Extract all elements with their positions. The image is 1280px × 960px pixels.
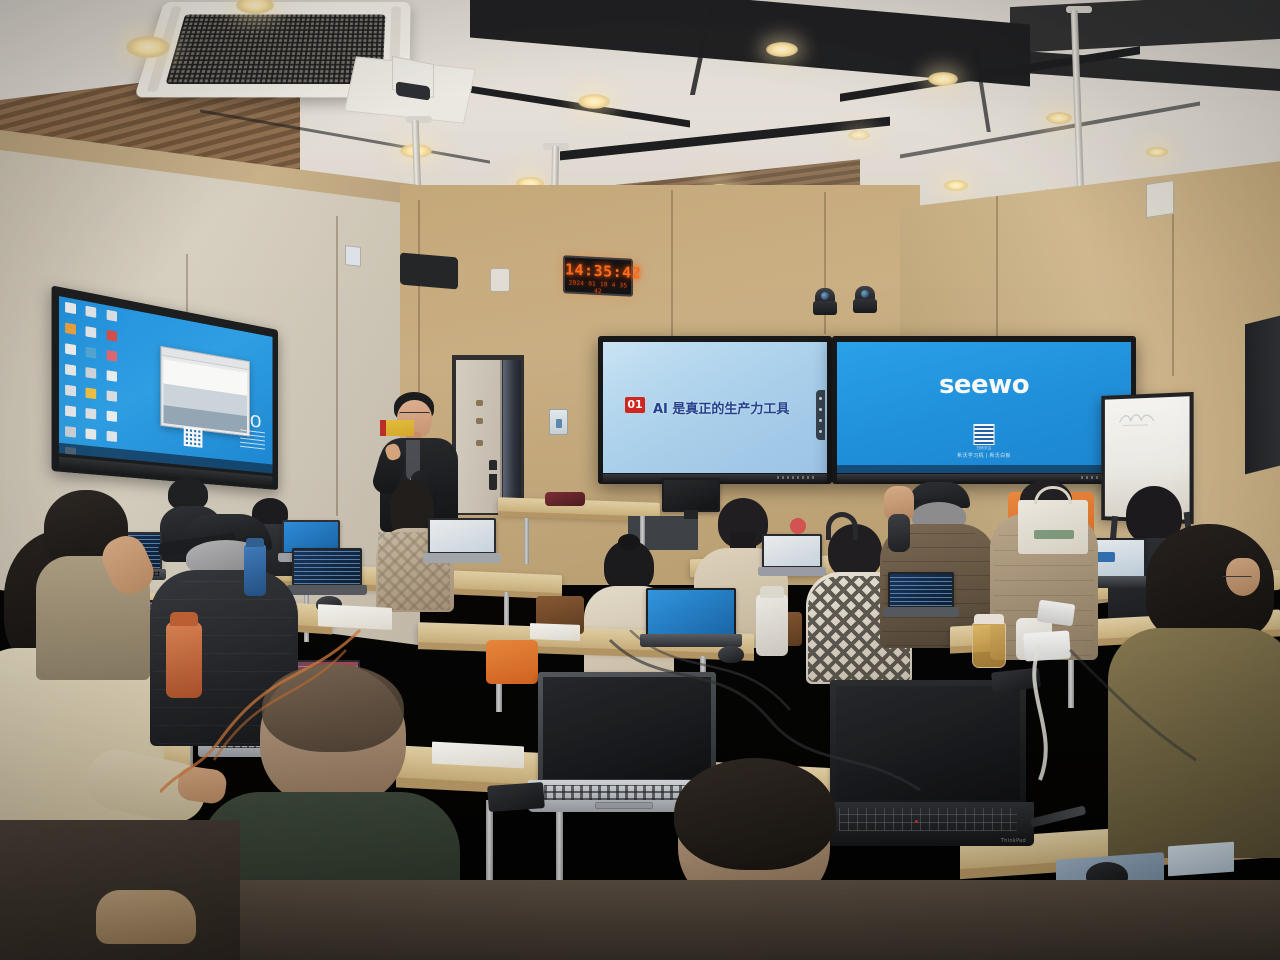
wall-sensor: [490, 268, 510, 292]
door-hinge-bottom: [476, 440, 483, 446]
desktop-icon[interactable]: [107, 310, 117, 322]
downlight-5: [578, 94, 610, 109]
desktop-icon[interactable]: [107, 370, 117, 382]
downlight-7: [766, 42, 798, 57]
far-right-display-edge: [1245, 316, 1280, 475]
boot: [96, 890, 196, 944]
desktop-widget[interactable]: [240, 429, 265, 452]
downlight-8: [928, 72, 958, 86]
desktop-icon[interactable]: [65, 426, 76, 438]
whiteboard-scribble: [1118, 410, 1158, 429]
desktop-icon[interactable]: [107, 411, 117, 422]
door-hinge-top: [476, 400, 483, 406]
desktop-icon[interactable]: [65, 405, 76, 417]
wall-speaker-left: [400, 252, 458, 289]
seewo-standby-screen[interactable]: seewo 扫码关注 希沃学习机 | 希沃白板: [837, 342, 1131, 473]
qr-caption: 扫码关注: [837, 446, 1131, 451]
door-hinge-mid: [476, 418, 483, 424]
desktop-icon[interactable]: [86, 428, 97, 439]
desktop-icon[interactable]: [107, 431, 117, 442]
desktop-icon[interactable]: [86, 326, 97, 338]
tote-bag[interactable]: [1018, 500, 1088, 554]
downlight-1: [126, 36, 170, 58]
pole-plate-1: [406, 116, 432, 123]
desktop-icon[interactable]: [86, 408, 97, 419]
camera-body: [853, 299, 877, 313]
door-handle-bar[interactable]: [483, 470, 500, 474]
digital-wall-clock: 14:35:42 2024 01 18 4 35 42: [563, 255, 633, 297]
front-desk-leg: [524, 518, 529, 564]
camera-lens-icon: [821, 292, 829, 300]
cable-right: [1000, 640, 1200, 800]
desktop-icon[interactable]: [107, 350, 117, 362]
ptz-camera-left: [812, 288, 838, 318]
laptop-base[interactable]: [883, 607, 959, 617]
laptop-screen[interactable]: [764, 536, 820, 566]
downlight-9: [944, 180, 968, 191]
laptop-screen[interactable]: [430, 520, 494, 552]
headphones[interactable]: [826, 512, 858, 540]
display-side-toolbar[interactable]: [816, 390, 825, 440]
hair-bun-knot: [618, 534, 640, 550]
stylus-pen[interactable]: [1030, 805, 1087, 827]
classroom-photo-scene: 14:35:42 2024 01 18 4 35 42: [0, 0, 1280, 960]
wall-switch-panel[interactable]: [1146, 180, 1174, 218]
laptop-screen[interactable]: [648, 590, 734, 634]
toolbar-dot-icon[interactable]: [819, 397, 822, 400]
slide-title: AI 是真正的生产力工具: [653, 398, 789, 417]
laptop-row3-c[interactable]: [428, 518, 496, 566]
desktop-icon[interactable]: [65, 364, 76, 376]
desk-leg: [486, 800, 493, 890]
laptop-lid[interactable]: [888, 572, 954, 608]
desktop-icon[interactable]: [65, 302, 76, 314]
desktop-icon[interactable]: [65, 323, 76, 335]
glasses-icon: [1222, 576, 1252, 580]
trackpoint-icon[interactable]: [915, 820, 918, 823]
downlight-11: [1146, 147, 1168, 157]
camera-body: [813, 301, 837, 315]
desktop-icon[interactable]: [107, 390, 117, 401]
desktop-icon[interactable]: [86, 388, 97, 400]
tea-cup-lid[interactable]: [974, 614, 1004, 624]
wall-seam-4: [671, 190, 673, 336]
toolbar-dot-icon[interactable]: [819, 408, 822, 411]
laptop-lid[interactable]: [292, 548, 362, 586]
seewo-taskbar[interactable]: [837, 465, 1131, 473]
seewo-footer-text: 希沃学习机 | 希沃白板: [837, 452, 1131, 459]
main-dual-display[interactable]: 01 AI 是真正的生产力工具 seewo 扫码关注 希沃学习机 | 希沃白板: [598, 336, 1136, 484]
window-content: [164, 359, 247, 433]
toolbar-dot-icon[interactable]: [819, 419, 822, 422]
camera-lens-icon: [861, 290, 869, 298]
desktop-icon[interactable]: [86, 347, 97, 359]
cable-bundle: [600, 630, 930, 810]
wall-seam-6: [996, 196, 998, 346]
desktop-icon[interactable]: [65, 343, 76, 355]
wall-notice-sign: [380, 420, 414, 436]
attendee-raised-hand: [866, 486, 936, 552]
laptop-screen[interactable]: [294, 550, 360, 584]
door-access-control-panel[interactable]: [549, 409, 568, 435]
blue-thermos[interactable]: [244, 544, 266, 596]
wall-seam-2: [336, 216, 338, 516]
toolbar-dot-icon[interactable]: [819, 430, 822, 433]
attendee-left-second: [36, 490, 156, 680]
laptop-row3-b[interactable]: [292, 548, 362, 598]
main-display-left-panel[interactable]: 01 AI 是真正的生产力工具: [598, 336, 832, 484]
paper-handout-3[interactable]: [530, 623, 580, 641]
glasses-icon: [399, 412, 430, 417]
desktop-icon[interactable]: [65, 385, 76, 397]
downlight-12: [848, 130, 870, 140]
slide-screen[interactable]: 01 AI 是真正的生产力工具: [603, 342, 827, 473]
white-bottle-cap[interactable]: [760, 586, 784, 598]
red-marker: [790, 518, 806, 534]
desktop-qr-code: [184, 427, 203, 448]
desk-card: [1168, 842, 1234, 877]
laptop-row3-d[interactable]: [762, 534, 822, 578]
clock-time: 14:35:42: [565, 260, 631, 281]
laptop-base[interactable]: [423, 553, 501, 563]
laptop-lid[interactable]: [762, 534, 822, 568]
door-lock-handle[interactable]: [489, 460, 497, 490]
ptz-camera-right: [852, 286, 878, 316]
tote-bag-logo: [1034, 530, 1074, 539]
laptop-lid[interactable]: [428, 518, 496, 554]
wall-outlet[interactable]: [345, 245, 361, 267]
main-display-right-panel[interactable]: seewo 扫码关注 希沃学习机 | 希沃白板: [832, 336, 1136, 484]
laptop-lid[interactable]: [646, 588, 736, 636]
laptop-row3-e[interactable]: [888, 572, 954, 620]
wall-seam-7: [1172, 186, 1174, 376]
red-item-on-desk: [545, 492, 585, 506]
laptop-screen[interactable]: [890, 574, 952, 606]
blue-thermos-cap[interactable]: [246, 538, 264, 547]
thinkpad-logo: ThinkPad: [1001, 838, 1026, 844]
cable-left: [160, 620, 380, 800]
desktop-icon[interactable]: [86, 306, 97, 318]
slide-number-badge: 01: [625, 397, 645, 413]
laptop-base[interactable]: [758, 567, 826, 576]
left-display-screen[interactable]: o: [59, 296, 272, 473]
seewo-qr-code[interactable]: [974, 424, 995, 445]
downlight-10: [1046, 112, 1072, 124]
smartphone-on-desk[interactable]: [487, 782, 545, 812]
raised-forearm: [888, 514, 910, 552]
door-opening: [503, 360, 521, 513]
desktop-icon[interactable]: [107, 330, 117, 342]
desktop-icon[interactable]: [86, 367, 97, 379]
desktop-open-window[interactable]: [160, 346, 249, 437]
seewo-logo: seewo: [837, 370, 1131, 400]
